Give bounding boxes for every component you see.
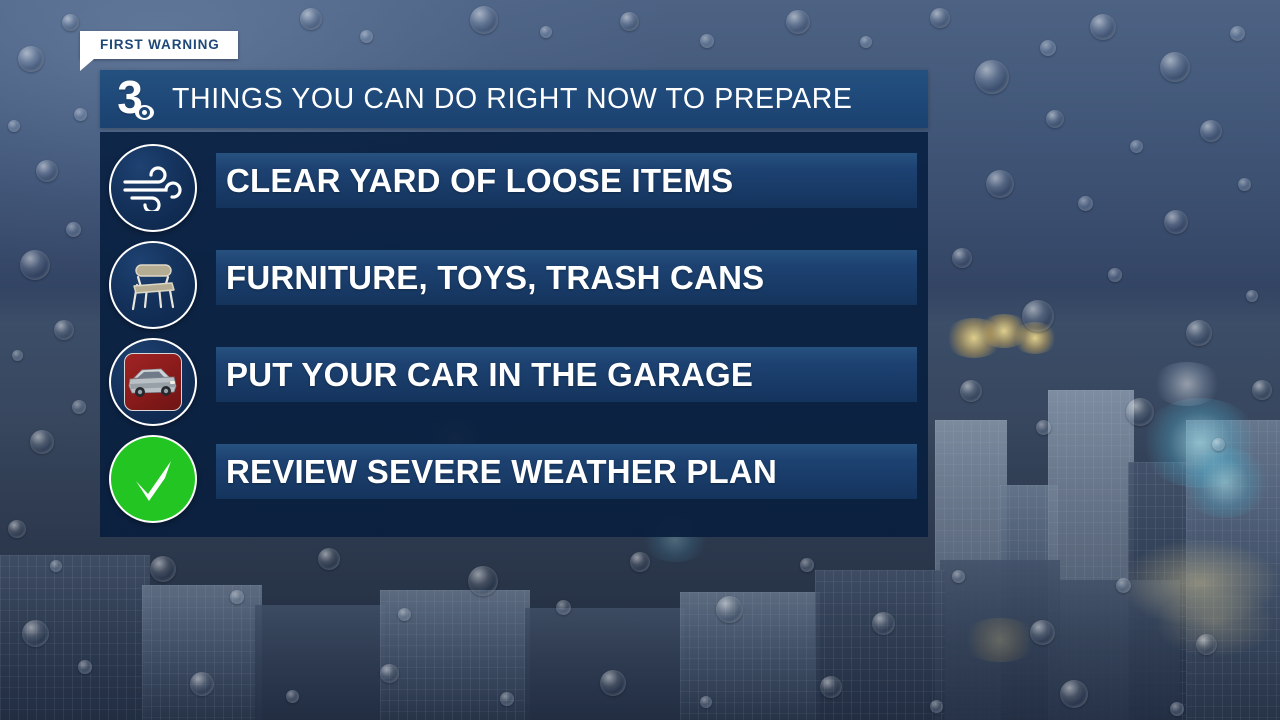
- list-item: FURNITURE, TOYS, TRASH CANS: [100, 242, 928, 312]
- header-bar: 3 THINGS YOU CAN DO RIGHT NOW TO PREPARE: [100, 70, 928, 128]
- list-item-label: FURNITURE, TOYS, TRASH CANS: [226, 261, 764, 294]
- list-item-label: CLEAR YARD OF LOOSE ITEMS: [226, 164, 733, 197]
- preparedness-list-panel: CLEAR YARD OF LOOSE ITEMS: [100, 132, 928, 537]
- list-item-label: REVIEW SEVERE WEATHER PLAN: [226, 455, 777, 488]
- list-item: CLEAR YARD OF LOOSE ITEMS: [100, 145, 928, 215]
- first-warning-banner-tail: [80, 59, 94, 71]
- patio-chair-icon: [109, 241, 197, 329]
- first-warning-banner: FIRST WARNING: [80, 31, 238, 59]
- page-title: THINGS YOU CAN DO RIGHT NOW TO PREPARE: [172, 83, 853, 116]
- channel-3-logo: 3: [100, 70, 162, 128]
- preparedness-list: CLEAR YARD OF LOOSE ITEMS: [100, 132, 928, 537]
- list-item: PUT YOUR CAR IN THE GARAGE: [100, 339, 928, 409]
- cbs-eye-icon: [135, 105, 154, 120]
- list-item-label: PUT YOUR CAR IN THE GARAGE: [226, 358, 753, 391]
- weather-graphic-stage: FIRST WARNING 3 THINGS YOU CAN DO RIGHT …: [0, 0, 1280, 720]
- wind-icon: [109, 144, 197, 232]
- check-circle-icon: [109, 435, 197, 523]
- car-icon-tile: [124, 353, 182, 411]
- first-warning-label: FIRST WARNING: [100, 38, 220, 52]
- list-item: REVIEW SEVERE WEATHER PLAN: [100, 436, 928, 506]
- car-icon: [109, 338, 197, 426]
